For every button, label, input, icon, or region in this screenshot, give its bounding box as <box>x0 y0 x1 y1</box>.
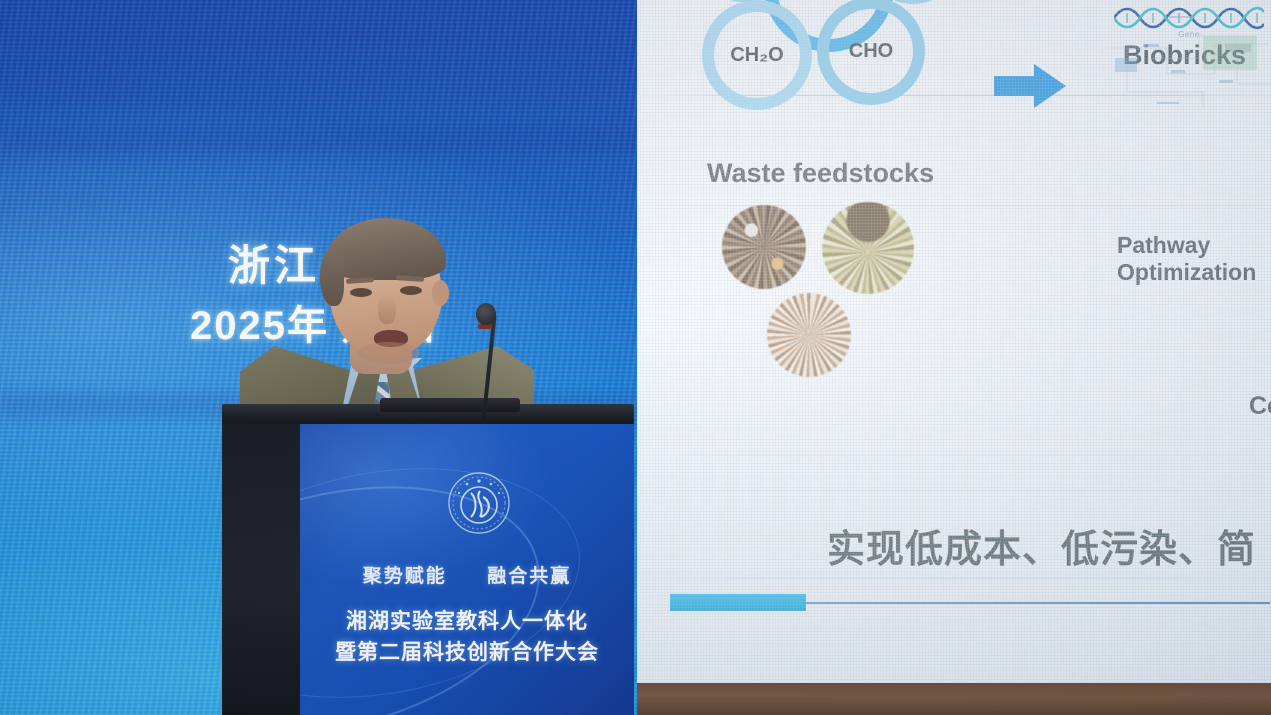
xianghu-laboratory-emblem <box>447 471 511 535</box>
feedstock-photo <box>822 202 914 294</box>
chin-shadow <box>358 342 420 364</box>
slide-conclusion-text: 实现低成本、低污染、简 <box>827 518 1256 573</box>
podium-side-panel <box>222 424 304 715</box>
screen-bottom-frame <box>637 683 1271 715</box>
feedstock-photo <box>767 293 851 377</box>
molecule-bubble-ch2o: CH₂O <box>702 0 812 110</box>
podium-slogan: 聚势赋能 融合共赢 <box>300 561 634 588</box>
podium-slogan-left: 聚势赋能 <box>363 566 447 587</box>
eye-left <box>350 288 372 297</box>
microphone-head-icon <box>476 303 496 325</box>
pathway-optimization-title: Pathway Optimization <box>1117 232 1271 286</box>
c1-molecule-diagram: C1 CH₂O CHO <box>692 0 952 92</box>
cell-factory-title: Ce <box>1249 392 1271 421</box>
podium-event-title: 湘湖实验室教科人一体化 暨第二届科技创新合作大会 <box>300 606 634 668</box>
promoter-gene-construct: Promoter Gene <box>1082 0 1271 2</box>
slide-progress-fill[interactable] <box>670 594 806 611</box>
pathway-title-line2: Optimization <box>1117 259 1271 286</box>
microphone-base <box>380 398 520 412</box>
slide-divider <box>637 455 1271 456</box>
feedstock-photo <box>722 205 806 289</box>
podium-slogan-right: 融合共赢 <box>487 566 571 587</box>
ear-right <box>432 280 449 306</box>
podium-title-line2: 暨第二届科技创新合作大会 <box>300 637 634 668</box>
projected-slide: C1 CH₂O CHO Promoter Gene <box>637 0 1271 683</box>
eye-right <box>400 286 422 295</box>
slide-divider <box>637 490 1271 491</box>
slide-divider <box>637 578 1271 579</box>
molecule-bubble-cho: CHO <box>817 0 925 105</box>
waste-feedstock-photos <box>722 205 922 375</box>
presentation-photo: 浙江·萧 2025年 月 日 C1 CH₂O CHO Promoter <box>0 0 1271 715</box>
podium-title-line1: 湘湖实验室教科人一体化 <box>300 606 634 637</box>
hair <box>326 218 446 280</box>
pathway-title-line1: Pathway <box>1117 232 1271 259</box>
hair-side <box>320 248 344 306</box>
nose <box>378 294 396 324</box>
waste-feedstocks-title: Waste feedstocks <box>707 158 934 189</box>
pathway-network-diagram <box>1107 14 1271 119</box>
right-arrow-icon <box>994 62 1066 110</box>
